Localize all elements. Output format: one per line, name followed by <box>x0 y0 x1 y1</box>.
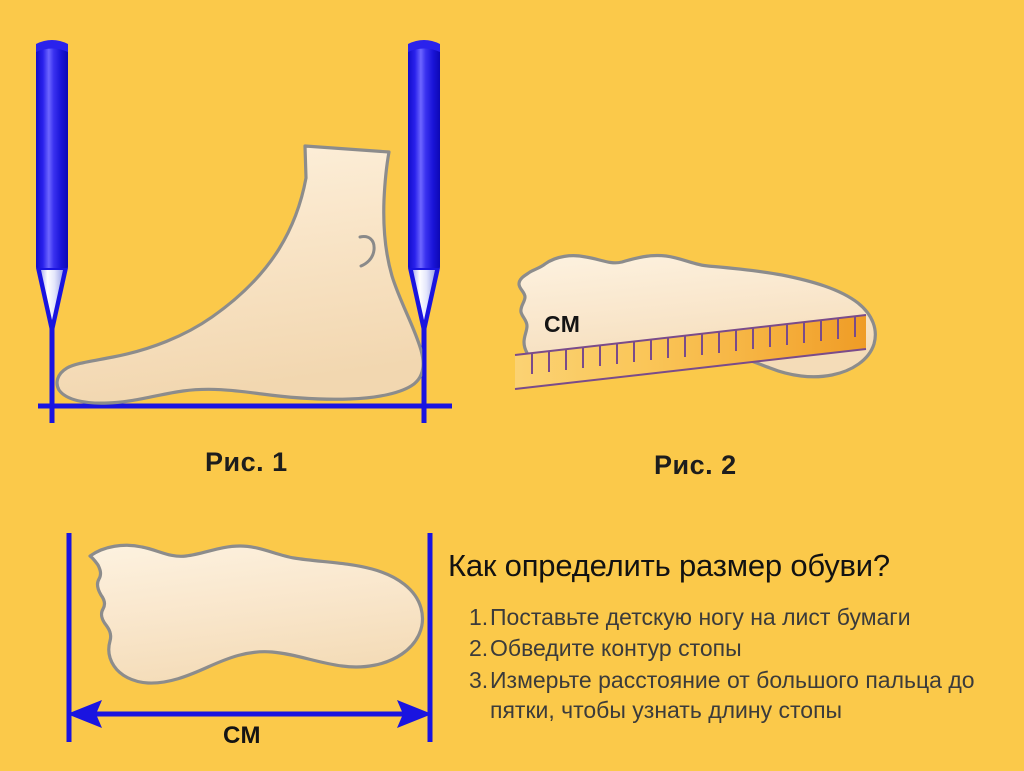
cm-unit-label-figure-2: СМ <box>544 311 580 338</box>
page-title: Как определить размер обуви? <box>448 548 1014 584</box>
step-number: 3. <box>469 665 490 696</box>
foot-outline-bottom <box>90 545 422 683</box>
list-item: 1. Поставьте детскую ногу на лист бумаги <box>448 602 1014 633</box>
figure-1-group <box>36 40 452 423</box>
foot-side-profile <box>57 146 423 403</box>
step-text: Поставьте детскую ногу на лист бумаги <box>490 602 1014 633</box>
step-number: 1. <box>469 602 490 633</box>
cm-measurement-label-figure-3: СМ <box>223 722 261 750</box>
step-text: Измерьте расстояние от большого пальца д… <box>490 665 1014 726</box>
instruction-steps-list: 1. Поставьте детскую ногу на лист бумаги… <box>448 602 1014 726</box>
figure-1-caption: Рис. 1 <box>205 447 288 478</box>
step-number: 2. <box>469 633 490 664</box>
figure-2-caption: Рис. 2 <box>654 450 737 481</box>
instructions-panel: Как определить размер обуви? 1. Поставьт… <box>448 548 1014 727</box>
list-item: 2. Обведите контур стопы <box>448 633 1014 664</box>
poster-canvas: Рис. 1 Рис. 2 СМ СМ Как определить разме… <box>0 0 1024 771</box>
list-item: 3. Измерьте расстояние от большого пальц… <box>448 665 1014 726</box>
figure-3-group <box>67 533 432 742</box>
step-text: Обведите контур стопы <box>490 633 1014 664</box>
pencil-left <box>36 40 68 406</box>
